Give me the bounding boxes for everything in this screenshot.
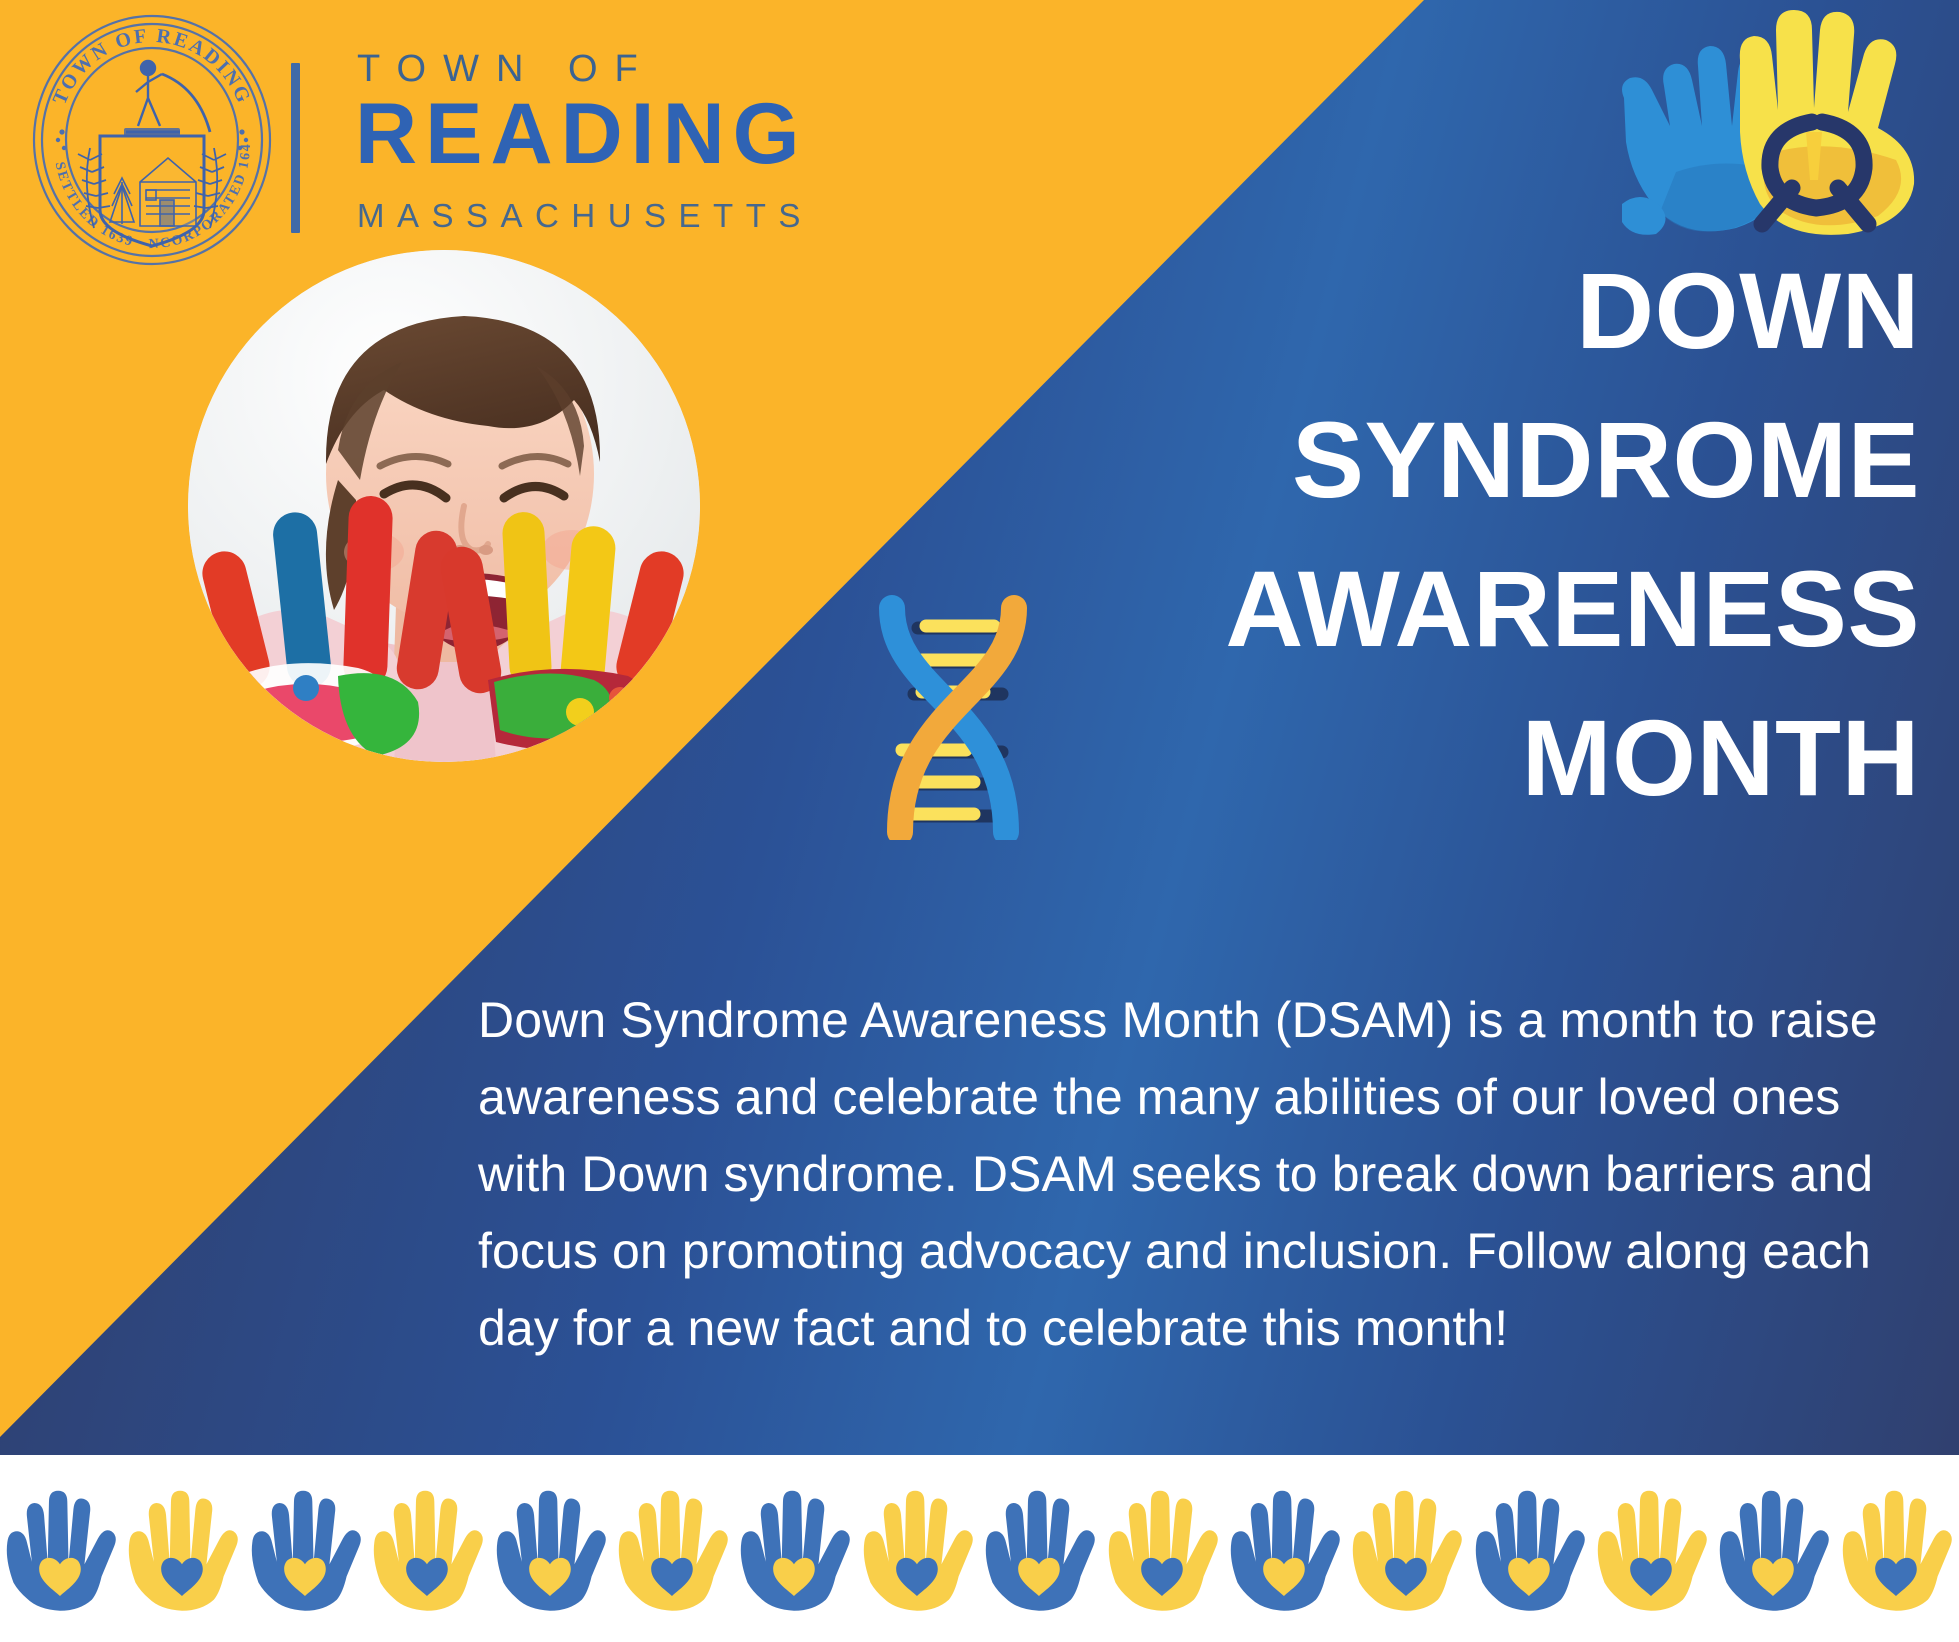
hand-with-heart-icon (1102, 1462, 1224, 1642)
hand-with-heart-icon (734, 1462, 856, 1642)
wordmark-line-massachusetts: MASSACHUSETTS (357, 197, 813, 235)
page-title: DOWN SYNDROME AWARENESS MONTH (880, 236, 1920, 832)
hand-with-heart-icon (1713, 1462, 1835, 1642)
town-wordmark: TOWN OF READING MASSACHUSETTS (291, 48, 891, 243)
hand-with-heart-icon (245, 1462, 367, 1642)
town-of-reading-seal: TOWN OF READING SETTLED 1639 INCORPORATE… (28, 14, 276, 266)
hand-with-heart-icon (0, 1462, 122, 1642)
headline-line-3: AWARENESS (880, 534, 1920, 683)
hand-border-strip (0, 1462, 1959, 1642)
hand-with-heart-icon (612, 1462, 734, 1642)
headline-line-2: SYNDROME (880, 385, 1920, 534)
hand-with-heart-icon (367, 1462, 489, 1642)
hand-with-heart-icon (122, 1462, 244, 1642)
hand-with-heart-icon (857, 1462, 979, 1642)
hand-with-heart-icon (1224, 1462, 1346, 1642)
hand-with-heart-icon (490, 1462, 612, 1642)
hand-with-heart-icon (1346, 1462, 1468, 1642)
wordmark-divider-rule (291, 63, 300, 233)
hand-with-heart-icon (1836, 1462, 1958, 1642)
wordmark-line-town-of: TOWN OF (357, 48, 655, 91)
poster-canvas: TOWN OF READING SETTLED 1639 INCORPORATE… (0, 0, 1959, 1642)
hand-with-heart-icon (979, 1462, 1101, 1642)
hand-with-heart-icon (1469, 1462, 1591, 1642)
child-photo (188, 250, 700, 762)
blue-and-yellow-handprints-with-awareness-ribbon-icon (1616, 2, 1956, 237)
wordmark-line-reading: READING (355, 91, 808, 177)
body-paragraph: Down Syndrome Awareness Month (DSAM) is … (478, 982, 1918, 1367)
hand-with-heart-icon (1591, 1462, 1713, 1642)
headline-line-1: DOWN (880, 236, 1920, 385)
headline-line-4: MONTH (880, 683, 1920, 832)
